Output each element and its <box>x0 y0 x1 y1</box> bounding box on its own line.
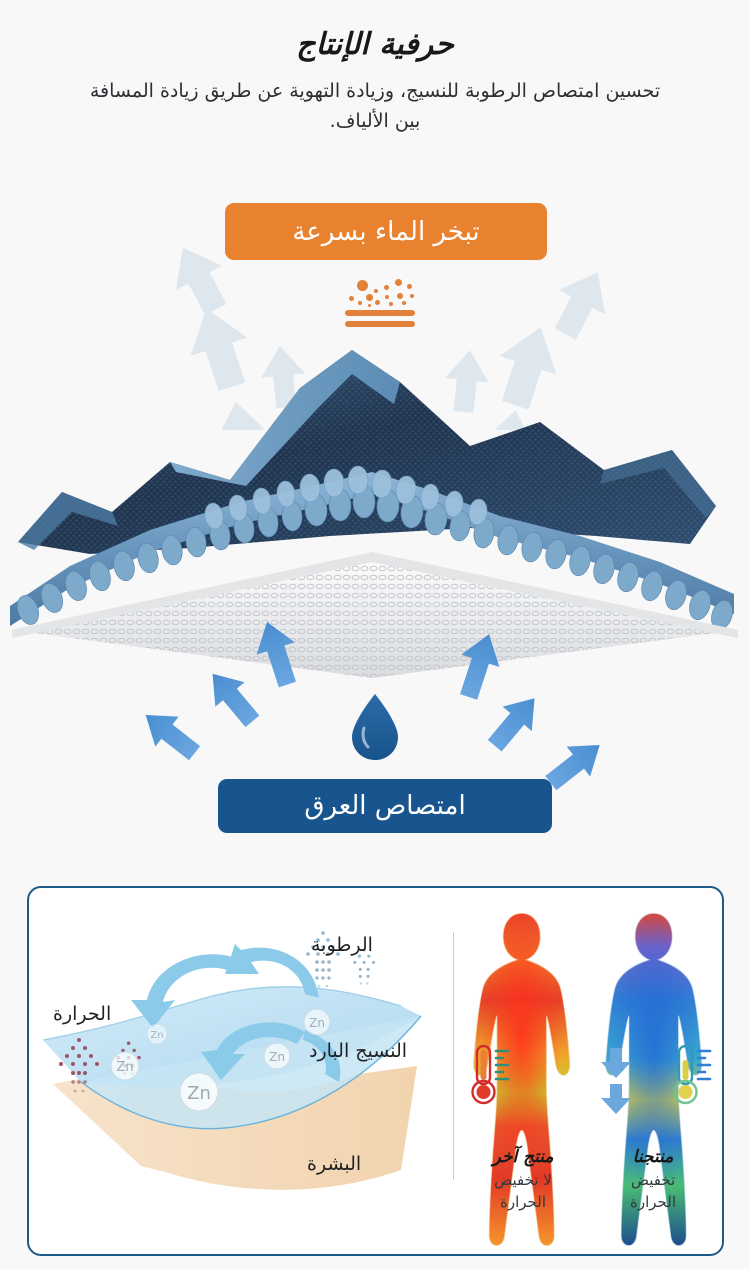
page-title: حرفية الإنتاج <box>0 26 750 64</box>
our-product-subtitle-line1: تخفيض <box>591 1170 715 1190</box>
other-product-title: منتج آخر <box>461 1146 585 1168</box>
label-humidity: الرطوبة <box>311 934 373 956</box>
sweat-absorption-arrows-group <box>0 600 750 790</box>
absorption-badge: امتصاص العرق <box>218 779 552 833</box>
evaporation-bar-top <box>345 310 415 316</box>
evaporation-badge-label: تبخر الماء بسرعة <box>292 217 479 247</box>
evaporation-dots-icon <box>341 279 419 327</box>
svg-text:Zn: Zn <box>150 1030 163 1041</box>
evaporation-bar-bottom <box>345 321 415 327</box>
evaporation-badge: تبخر الماء بسرعة <box>225 203 547 260</box>
page-subtitle: تحسين امتصاص الرطوبة للنسيج، وزيادة الته… <box>75 76 675 137</box>
svg-text:Zn: Zn <box>187 1083 211 1104</box>
infographic-page: حرفية الإنتاج تحسين امتصاص الرطوبة للنسي… <box>0 0 750 1269</box>
comparison-panel: Zn Zn Zn Zn <box>27 886 724 1256</box>
other-product-column: منتج آخر لا تخفيض الحرارة <box>461 1146 585 1213</box>
svg-text:Zn: Zn <box>309 1016 325 1030</box>
our-product-subtitle-line2: الحرارة <box>591 1192 715 1212</box>
header-block: حرفية الإنتاج تحسين امتصاص الرطوبة للنسي… <box>0 26 750 136</box>
absorption-badge-label: امتصاص العرق <box>304 791 465 821</box>
svg-text:Zn: Zn <box>269 1050 285 1064</box>
thermometer-cold-icon <box>675 1046 711 1103</box>
label-heat: الحرارة <box>53 1003 111 1025</box>
cooling-comparison-section: Zn Zn Zn Zn <box>0 872 750 1269</box>
our-product-title: منتجنا <box>591 1146 715 1168</box>
cooling-fabric-diagram: Zn Zn Zn Zn <box>29 888 453 1256</box>
other-product-subtitle-line2: الحرارة <box>461 1192 585 1212</box>
thermal-comparison: منتج آخر لا تخفيض الحرارة منتجنا تخفيض ا… <box>453 888 724 1256</box>
svg-text:Zn: Zn <box>116 1060 133 1075</box>
other-product-subtitle-line1: لا تخفيض <box>461 1170 585 1190</box>
our-product-column: منتجنا تخفيض الحرارة <box>591 1146 715 1213</box>
label-cool-fabric: النسيج البارد <box>309 1040 407 1062</box>
fabric-technology-section: حرفية الإنتاج تحسين امتصاص الرطوبة للنسي… <box>0 0 750 872</box>
label-skin: البشرة <box>307 1153 361 1175</box>
water-drop-icon <box>352 694 398 760</box>
